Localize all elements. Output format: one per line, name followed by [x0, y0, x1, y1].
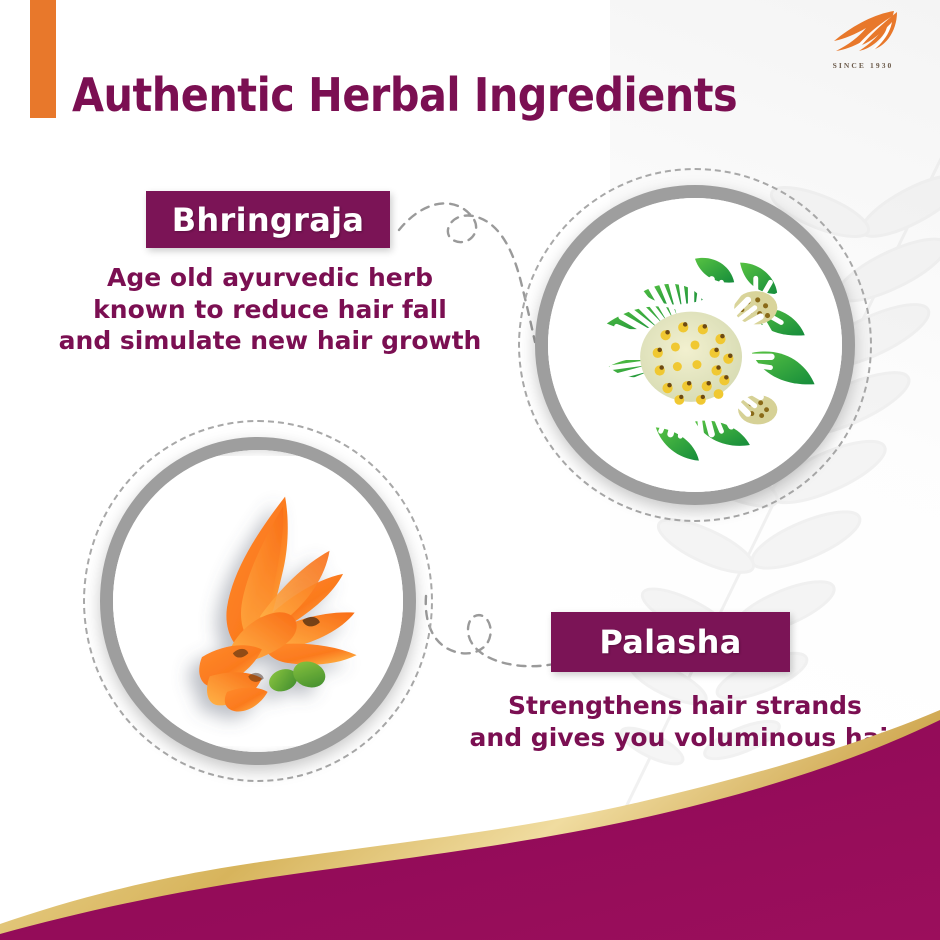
brand-logo: SINCE 1930: [824, 8, 902, 78]
page-title: Authentic Herbal Ingredients: [72, 68, 737, 122]
orange-palasha-flower-icon: [113, 450, 403, 752]
ingredient-image-bhringraja[interactable]: [535, 185, 855, 505]
orange-flower-photo: [113, 450, 403, 752]
white-flower-photo: [548, 198, 842, 492]
title-accent-bar: [30, 0, 56, 118]
ingredient-label-bhringraja[interactable]: Bhringraja: [146, 191, 390, 248]
ingredient-label-palasha[interactable]: Palasha: [551, 612, 790, 672]
ingredient-image-palasha[interactable]: [100, 437, 416, 765]
white-daisy-flower-icon: [548, 198, 842, 492]
ingredient-description-bhringraja: Age old ayurvedic herb known to reduce h…: [40, 262, 500, 357]
ingredient-description-palasha: Strengthens hair strands and gives you v…: [455, 690, 915, 753]
ingredient-label-text: Bhringraja: [172, 201, 365, 239]
logo-since-text: SINCE 1930: [824, 61, 902, 70]
ingredient-label-text: Palasha: [599, 623, 741, 661]
flame-leaf-icon: [826, 8, 900, 58]
poster-canvas: Authentic Herbal Ingredients SINCE 1930: [0, 0, 940, 940]
